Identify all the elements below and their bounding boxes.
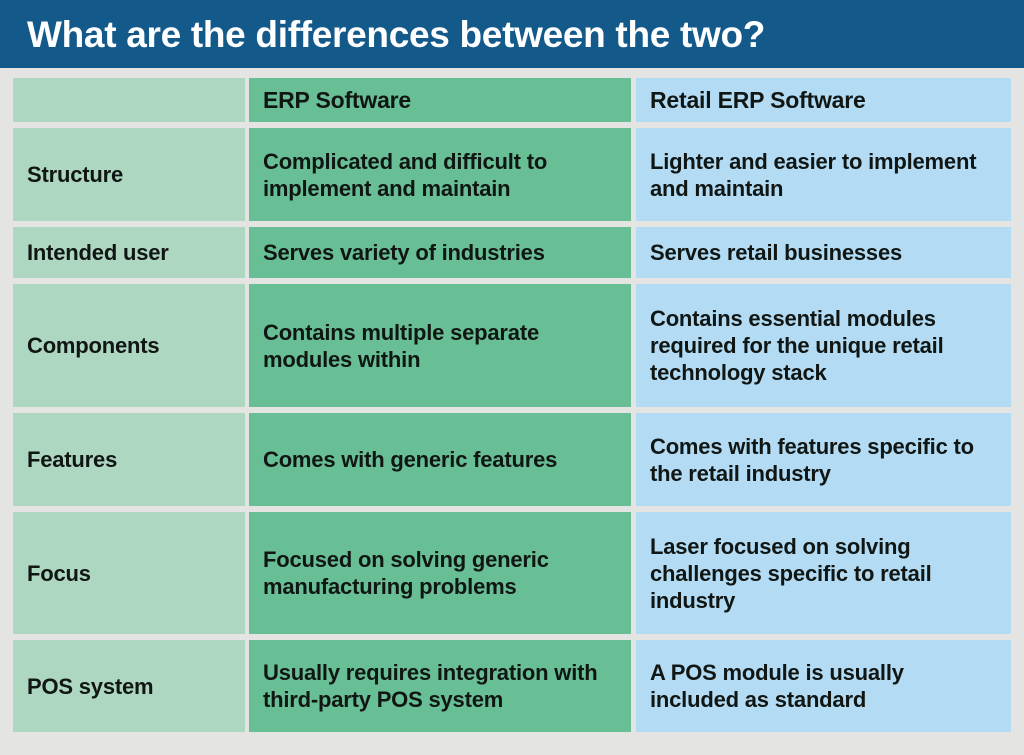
row-retail-text: Laser focused on solving challenges spec… bbox=[650, 533, 997, 614]
row-label-text: Structure bbox=[27, 161, 123, 188]
row-label-cell: Intended user bbox=[13, 227, 245, 278]
row-erp-text: Focused on solving generic manufacturing… bbox=[263, 546, 617, 600]
row-label-text: POS system bbox=[27, 673, 153, 700]
slide-title-bar: What are the differences between the two… bbox=[0, 0, 1024, 68]
row-label-text: Focus bbox=[27, 560, 91, 587]
row-label-cell: Focus bbox=[13, 512, 245, 634]
row-erp-text: Complicated and difficult to implement a… bbox=[263, 148, 617, 202]
table-row: Focus Focused on solving generic manufac… bbox=[13, 512, 1011, 634]
row-erp-cell: Focused on solving generic manufacturing… bbox=[249, 512, 631, 634]
table-header-label-retail: Retail ERP Software bbox=[650, 87, 866, 114]
row-erp-text: Contains multiple separate modules withi… bbox=[263, 319, 617, 373]
row-retail-cell: Comes with features specific to the reta… bbox=[636, 413, 1011, 506]
table-header-row: ERP Software Retail ERP Software bbox=[13, 78, 1011, 122]
row-label-cell: POS system bbox=[13, 640, 245, 732]
row-erp-cell: Serves variety of industries bbox=[249, 227, 631, 278]
row-retail-cell: Laser focused on solving challenges spec… bbox=[636, 512, 1011, 634]
row-erp-text: Serves variety of industries bbox=[263, 239, 545, 266]
table-row: Features Comes with generic features Com… bbox=[13, 413, 1011, 506]
row-label-text: Features bbox=[27, 446, 117, 473]
table-header-cell-retail: Retail ERP Software bbox=[636, 78, 1011, 122]
row-retail-cell: Lighter and easier to implement and main… bbox=[636, 128, 1011, 221]
row-retail-cell: Contains essential modules required for … bbox=[636, 284, 1011, 407]
table-row: Components Contains multiple separate mo… bbox=[13, 284, 1011, 407]
row-retail-text: Serves retail businesses bbox=[650, 239, 902, 266]
row-label-cell: Features bbox=[13, 413, 245, 506]
row-erp-cell: Complicated and difficult to implement a… bbox=[249, 128, 631, 221]
table-header-label-erp: ERP Software bbox=[263, 87, 411, 114]
row-retail-text: Comes with features specific to the reta… bbox=[650, 433, 997, 487]
table-row: Intended user Serves variety of industri… bbox=[13, 227, 1011, 278]
row-label-cell: Components bbox=[13, 284, 245, 407]
row-retail-text: Contains essential modules required for … bbox=[650, 305, 997, 386]
row-erp-cell: Contains multiple separate modules withi… bbox=[249, 284, 631, 407]
row-retail-cell: A POS module is usually included as stan… bbox=[636, 640, 1011, 732]
row-erp-cell: Usually requires integration with third-… bbox=[249, 640, 631, 732]
row-label-cell: Structure bbox=[13, 128, 245, 221]
table-row: Structure Complicated and difficult to i… bbox=[13, 128, 1011, 221]
row-erp-text: Usually requires integration with third-… bbox=[263, 659, 617, 713]
row-retail-text: A POS module is usually included as stan… bbox=[650, 659, 997, 713]
row-label-text: Intended user bbox=[27, 239, 169, 266]
row-retail-text: Lighter and easier to implement and main… bbox=[650, 148, 997, 202]
comparison-table: ERP Software Retail ERP Software Structu… bbox=[13, 78, 1011, 732]
slide-page: What are the differences between the two… bbox=[0, 0, 1024, 755]
page-title: What are the differences between the two… bbox=[27, 16, 765, 53]
row-label-text: Components bbox=[27, 332, 159, 359]
row-erp-text: Comes with generic features bbox=[263, 446, 557, 473]
table-header-cell-erp: ERP Software bbox=[249, 78, 631, 122]
row-retail-cell: Serves retail businesses bbox=[636, 227, 1011, 278]
table-row: POS system Usually requires integration … bbox=[13, 640, 1011, 732]
table-header-cell-blank bbox=[13, 78, 245, 122]
row-erp-cell: Comes with generic features bbox=[249, 413, 631, 506]
